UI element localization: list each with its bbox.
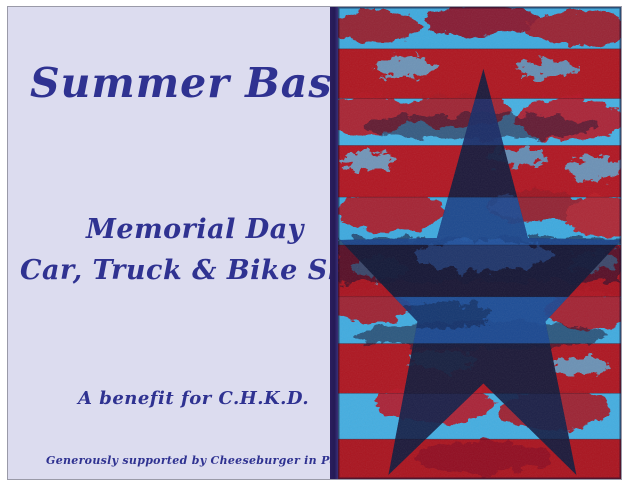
poster-benefit-line: A benefit for C.H.K.D. <box>78 390 309 408</box>
poster-subtitle-line-1: Memorial Day <box>86 216 304 243</box>
event-poster: Summer Bash 7 Memorial Day Car, Truck & … <box>7 6 622 480</box>
grain-overlay <box>338 7 621 479</box>
flag-artwork-panel <box>338 7 621 479</box>
distressed-flag-star-artwork <box>338 7 621 479</box>
poster-text-panel: Summer Bash 7 Memorial Day Car, Truck & … <box>8 7 330 479</box>
panel-divider <box>330 7 338 479</box>
